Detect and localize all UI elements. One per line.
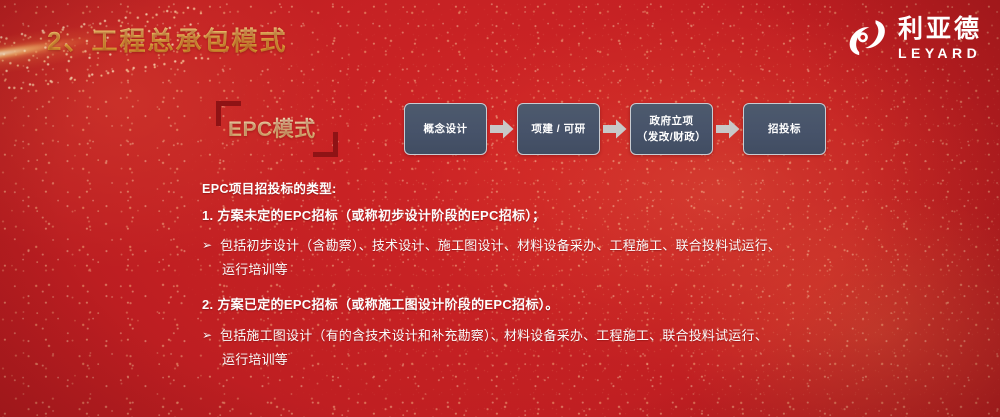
flow-step-government-approval[interactable]: 政府立项 （发改/财政）	[630, 103, 713, 155]
brand-logo: 利亚德 LEYARD	[845, 16, 982, 60]
body-content: EPC项目招投标的类型: 1. 方案未定的EPC招标（或称初步设计阶段的EPC招…	[202, 180, 842, 378]
flow-step-label: 项建 / 可研	[531, 121, 585, 137]
flow-arrow-1-icon	[487, 119, 517, 139]
flow-step-sublabel: （发改/财政）	[637, 129, 706, 145]
body-item-2-number: 2. 方案已定的EPC招标（或称施工图设计阶段的EPC招标）。	[202, 295, 842, 315]
bullet-text-line-1: 包括初步设计（含勘察）、技术设计、施工图设计、材料设备采办、工程施工、联合投料试…	[220, 238, 781, 253]
flow-step-bidding[interactable]: 招投标	[743, 103, 826, 155]
flow-step-label: 概念设计	[424, 121, 468, 137]
body-item-1-bullet: ➢ 包括初步设计（含勘察）、技术设计、施工图设计、材料设备采办、工程施工、联合投…	[202, 234, 842, 282]
bullet-text-line-2: 运行培训等	[220, 258, 842, 282]
flow-step-concept-design[interactable]: 概念设计	[404, 103, 487, 155]
body-spacer	[202, 288, 842, 295]
epc-mode-label-group: EPC模式	[216, 101, 338, 157]
epc-process-flow: 概念设计 项建 / 可研 政府立项 （发改/财政） 招投标	[404, 103, 826, 155]
flow-arrow-3-icon	[713, 119, 743, 139]
flow-step-label: 政府立项	[650, 113, 694, 129]
corner-bracket-bottom-right-icon	[313, 132, 338, 157]
brand-name-en: LEYARD	[898, 46, 981, 60]
body-heading: EPC项目招投标的类型:	[202, 180, 842, 199]
flow-step-project-feasibility[interactable]: 项建 / 可研	[517, 103, 600, 155]
flow-arrow-2-icon	[600, 119, 630, 139]
body-item-1-number: 1. 方案未定的EPC招标（或称初步设计阶段的EPC招标）；	[202, 206, 842, 226]
leyard-swirl-mark-icon	[845, 16, 889, 60]
page-title: 2、工程总承包模式	[47, 21, 287, 58]
epc-mode-label: EPC模式	[228, 113, 316, 143]
body-item-2-bullet: ➢ 包括施工图设计（有的含技术设计和补充勘察）、材料设备采办、工程施工、联合投料…	[202, 324, 842, 372]
slide-canvas: 2、工程总承包模式 利亚德 LEYARD EPC模式 概念设计	[0, 0, 1000, 417]
bullet-arrow-icon: ➢	[202, 234, 212, 256]
bullet-text-line-1: 包括施工图设计（有的含技术设计和补充勘察）、材料设备采办、工程施工、联合投料试运…	[220, 328, 768, 343]
brand-logo-text: 利亚德 LEYARD	[898, 17, 982, 60]
bullet-arrow-icon: ➢	[202, 324, 212, 346]
brand-name-cn: 利亚德	[898, 17, 982, 42]
flow-step-label: 招投标	[768, 121, 801, 137]
bullet-text-line-2: 运行培训等	[220, 348, 842, 372]
